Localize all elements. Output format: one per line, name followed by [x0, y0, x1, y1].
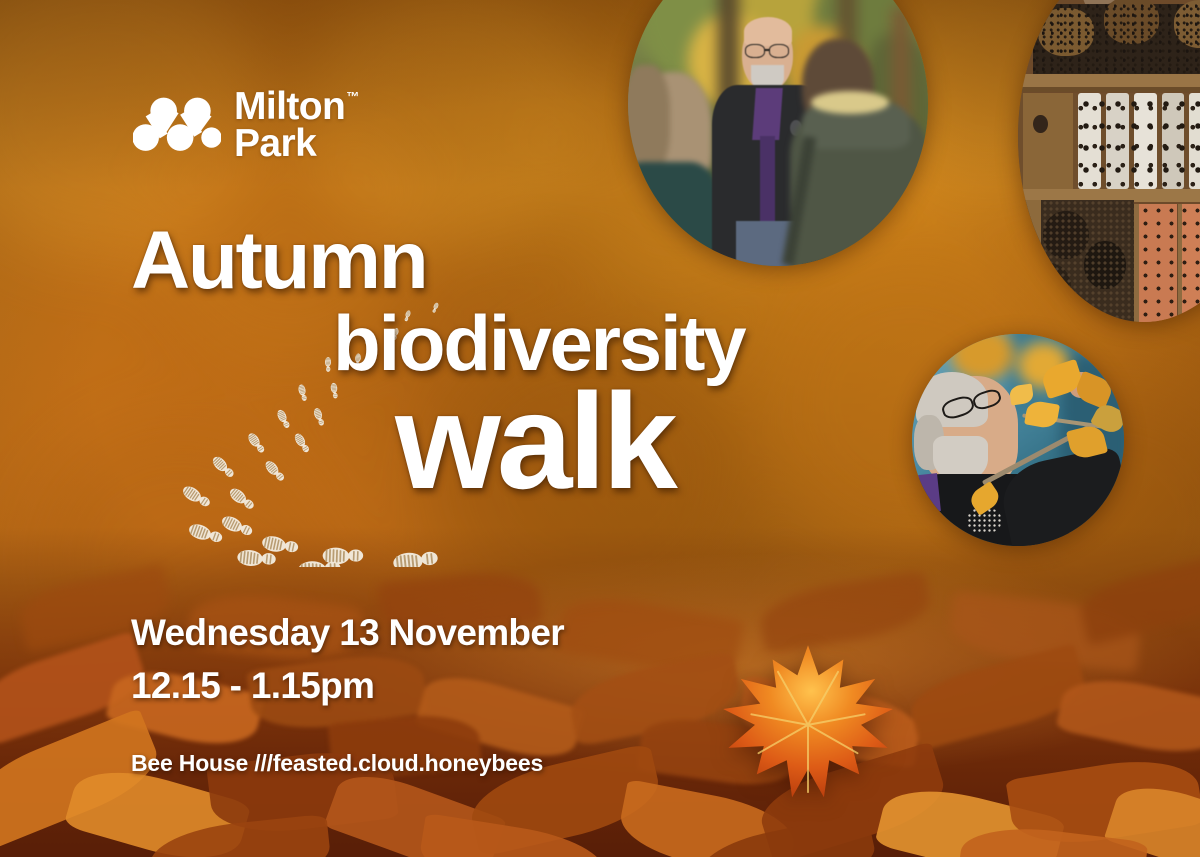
maple-leaf-icon — [718, 640, 898, 808]
event-time: 12.15 - 1.15pm — [131, 665, 564, 707]
event-location: Bee House ///feasted.cloud.honeybees — [131, 750, 564, 777]
event-date: Wednesday 13 November — [131, 612, 564, 654]
milton-park-molecule-m-logo-icon — [133, 96, 221, 154]
brand-name-line2: Park — [234, 125, 358, 162]
trademark-symbol: ™ — [346, 89, 359, 104]
photo-leafman — [912, 334, 1124, 546]
milton-park-wordmark: Milton™ Park — [234, 88, 358, 163]
event-poster: Milton™ Park — [0, 0, 1200, 857]
milton-park-logo: Milton™ Park — [133, 88, 358, 163]
poster-headline: Autumn biodiversity walk — [0, 222, 860, 506]
photo-beehotel — [1018, 0, 1200, 322]
headline-line-3: walk — [0, 378, 860, 506]
brand-name-line1: Milton — [234, 88, 345, 125]
headline-line-1: Autumn — [0, 222, 860, 299]
event-details: Wednesday 13 November 12.15 - 1.15pm Bee… — [131, 612, 564, 777]
